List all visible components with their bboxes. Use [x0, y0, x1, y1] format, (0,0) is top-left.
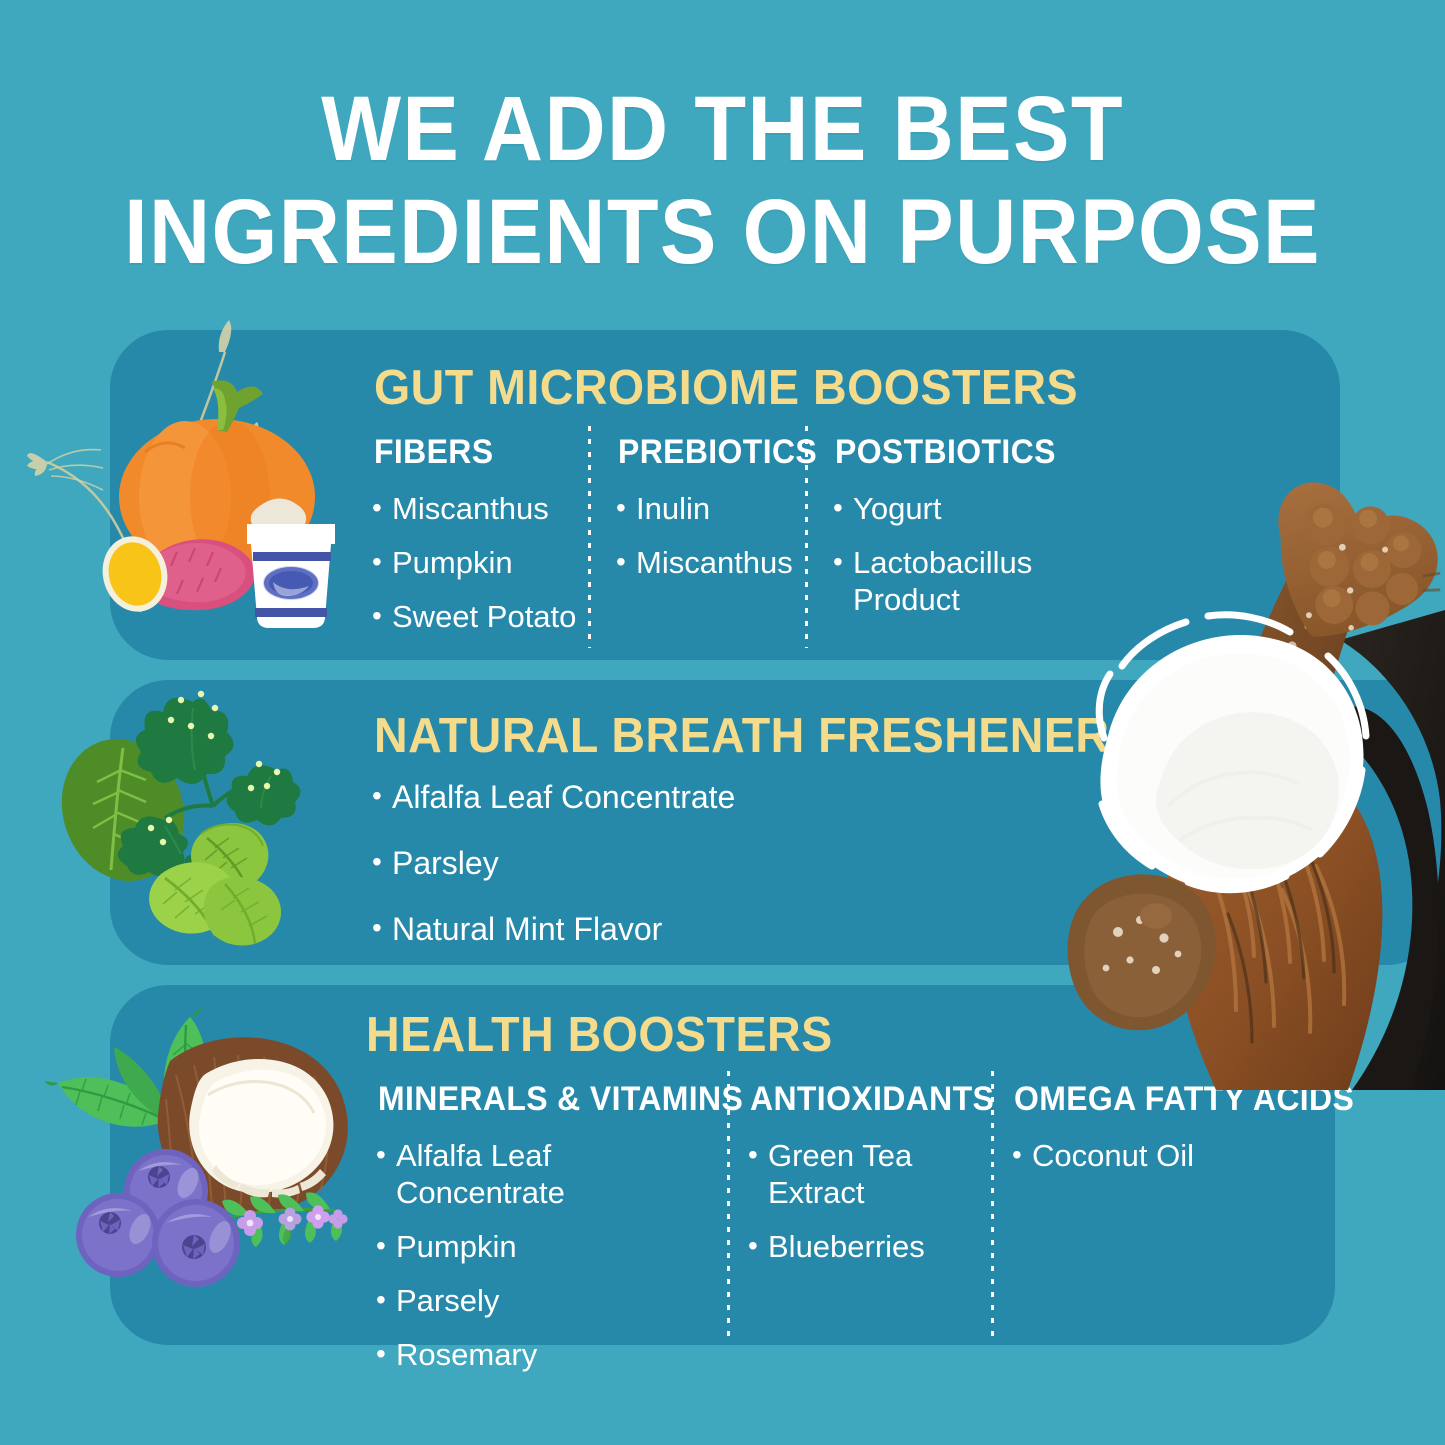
list-item: Rosemary: [376, 1336, 706, 1373]
card-3-list-minerals-vitamins: Alfalfa Leaf Concentrate Pumpkin Parsely…: [376, 1137, 706, 1390]
list-item: Lactobacillus Product: [833, 544, 1048, 618]
page-title: WE ADD THE BEST INGREDIENTS ON PURPOSE: [58, 78, 1387, 284]
card-2-list: Alfalfa Leaf Concentrate Parsley Natural…: [372, 778, 822, 948]
list-item: Yogurt: [833, 490, 1048, 527]
list-item: Green Tea Extract: [748, 1137, 938, 1211]
list-item: Inulin: [616, 490, 816, 527]
page-title-line-2: INGREDIENTS ON PURPOSE: [58, 181, 1387, 284]
card-1-subhead-prebiotics: PREBIOTICS: [618, 434, 817, 470]
list-item: Blueberries: [748, 1228, 938, 1265]
card-2-heading: NATURAL BREATH FRESHENERS: [374, 710, 1141, 762]
mint-parsley-alfalfa-illustration: [15, 658, 335, 958]
card-3-divider-1: [727, 1071, 730, 1343]
list-item: Alfalfa Leaf Concentrate: [372, 778, 822, 816]
list-item: Miscanthus: [372, 490, 592, 527]
card-3-list-omega-fatty-acids: Coconut Oil: [1012, 1137, 1252, 1191]
list-item: Coconut Oil: [1012, 1137, 1252, 1174]
card-3-subhead-antioxidants: ANTIOXIDANTS: [750, 1081, 994, 1117]
card-1-subhead-fibers: FIBERS: [374, 434, 493, 470]
card-3-subhead-minerals-vitamins: MINERALS & VITAMINS: [378, 1081, 743, 1117]
page-title-line-1: WE ADD THE BEST: [58, 78, 1387, 181]
card-3-divider-2: [991, 1071, 994, 1343]
card-3-list-antioxidants: Green Tea Extract Blueberries: [748, 1137, 938, 1282]
dog-paw-holding-dental-chew-illustration: [1040, 470, 1445, 1090]
coconut-blueberry-greentea-rosemary-illustration: [18, 995, 358, 1295]
card-1-heading: GUT MICROBIOME BOOSTERS: [374, 362, 1078, 414]
list-item: Miscanthus: [616, 544, 816, 581]
pumpkin-sweet-potato-yogurt-illustration: [25, 312, 355, 642]
list-item: Alfalfa Leaf Concentrate: [376, 1137, 706, 1211]
card-1-divider-2: [805, 426, 808, 648]
card-1-list-prebiotics: Inulin Miscanthus: [616, 490, 816, 598]
infographic-canvas: WE ADD THE BEST INGREDIENTS ON PURPOSE G…: [0, 0, 1445, 1445]
card-1-divider-1: [588, 426, 591, 648]
list-item: Natural Mint Flavor: [372, 910, 822, 948]
card-3-heading: HEALTH BOOSTERS: [366, 1009, 833, 1061]
list-item: Parsley: [372, 844, 822, 882]
list-item: Parsely: [376, 1282, 706, 1319]
card-1-list-postbiotics: Yogurt Lactobacillus Product: [833, 490, 1048, 635]
list-item: Pumpkin: [376, 1228, 706, 1265]
list-item: Sweet Potato: [372, 598, 592, 635]
card-1-subhead-postbiotics: POSTBIOTICS: [835, 434, 1056, 470]
card-1-list-fibers: Miscanthus Pumpkin Sweet Potato: [372, 490, 592, 652]
list-item: Pumpkin: [372, 544, 592, 581]
